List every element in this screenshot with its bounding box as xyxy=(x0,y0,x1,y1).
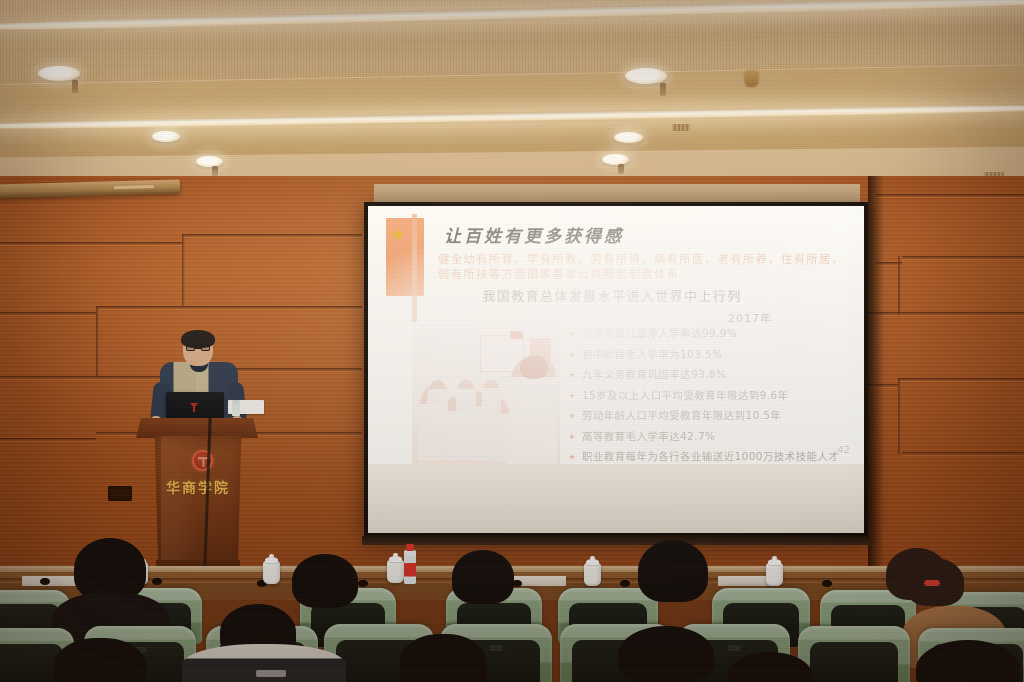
ceiling-vent xyxy=(672,124,690,131)
wall-groove-vertical xyxy=(182,234,185,306)
seat xyxy=(798,626,910,682)
bullet-text: 职业教育每年为各行各业输送近1000万技术技能人才 xyxy=(582,451,839,463)
ceiling-downlight xyxy=(625,68,667,84)
podium-bottle xyxy=(232,400,240,416)
photo-student xyxy=(456,380,475,419)
wall-socket xyxy=(108,486,132,501)
slide-classroom-photo xyxy=(412,324,560,464)
photo-student xyxy=(427,380,448,422)
bullet-marker-icon: ✦ xyxy=(568,411,576,423)
projected-slide: 让百姓有更多获得感 健全幼有所育、学有所教、劳有所得、病有所医、老有所养、住有所… xyxy=(368,206,864,464)
ceiling-downlight xyxy=(152,131,180,142)
wall-groove xyxy=(898,378,1024,381)
wall-groove xyxy=(0,376,184,379)
wall-groove-vertical xyxy=(96,306,99,376)
jacket-logo xyxy=(256,670,286,677)
audience-head xyxy=(638,540,708,602)
audience-head xyxy=(74,538,146,600)
photo-red-accent xyxy=(510,331,523,339)
ceiling-sensor xyxy=(745,70,758,86)
podium-institution-name: 华商学院 xyxy=(155,478,241,498)
downlight-stem xyxy=(660,83,666,96)
audience-head xyxy=(452,550,514,604)
bullet-text: 九年义务教育巩固率达93.8% xyxy=(582,369,726,381)
wall-groove xyxy=(0,242,182,245)
laptop xyxy=(166,392,224,418)
wall-groove xyxy=(902,452,1024,455)
wall-groove xyxy=(902,256,1024,259)
bullet-marker-icon: ✦ xyxy=(568,432,576,444)
wall-groove xyxy=(0,438,96,441)
audience-head xyxy=(54,638,146,682)
seat-number-tag xyxy=(490,645,503,651)
bullet-text: 劳动年龄人口平均受教育年限达到10.5年 xyxy=(582,410,781,422)
slide-subline: 健全幼有所育、学有所教、劳有所得、病有所医、老有所养、住有所居、弱有所扶等方面国… xyxy=(438,252,846,282)
seat-number-tag xyxy=(728,645,741,651)
slide-bullet-item: ✦ 职业教育每年为各行各业输送近1000万技术技能人才 xyxy=(568,451,854,464)
party-flag-icon xyxy=(386,218,424,296)
flag-pole xyxy=(412,214,417,322)
hair-clip xyxy=(924,580,940,586)
bullet-text: 初中阶段毛入学率为103.5% xyxy=(582,349,723,361)
ceiling-downlight xyxy=(38,66,80,81)
ceiling-downlight xyxy=(196,156,223,167)
screen-bottom-bar xyxy=(362,536,870,545)
photo-teacher-hair xyxy=(520,355,548,379)
wall-groove xyxy=(0,312,96,315)
projection-screen: 让百姓有更多获得感 健全幼有所育、学有所教、劳有所得、病有所医、老有所养、住有所… xyxy=(368,206,864,533)
ceiling-downlight xyxy=(614,132,643,143)
bullet-text: 高等教育毛入学率达42.7% xyxy=(582,431,715,443)
slide-bullet-item: ✦ 15岁及以上人口平均受教育年限达到9.6年 xyxy=(568,390,854,403)
wall-corner-shadow xyxy=(868,176,884,596)
glasses-icon xyxy=(186,345,210,351)
bullet-text: 小学学龄儿童净入学率达99.9% xyxy=(582,328,737,340)
slide-page-number: 42 xyxy=(837,445,850,456)
bullet-marker-icon: ✦ xyxy=(568,329,576,341)
slide-title: 让百姓有更多获得感 xyxy=(444,222,624,247)
audience-head xyxy=(292,554,358,608)
wall-groove-vertical xyxy=(898,378,901,454)
water-bottle xyxy=(404,550,416,584)
slide-bullet-item: ✦ 初中阶段毛入学率为103.5% xyxy=(568,349,854,362)
projection-screen-frame: 让百姓有更多获得感 健全幼有所育、学有所教、劳有所得、病有所医、老有所养、住有所… xyxy=(364,202,868,538)
photo-student xyxy=(482,380,501,416)
downlight-stem xyxy=(72,80,78,93)
slide-year-label: 2017年 xyxy=(728,310,772,326)
podium-top-surface xyxy=(136,418,258,438)
slide-section-heading: 我国教育总体发展水平进入世界中上行列 xyxy=(368,286,856,305)
downlight-stem xyxy=(618,164,624,174)
downlight-stem xyxy=(212,166,218,176)
wall-groove xyxy=(96,306,362,309)
bullet-marker-icon: ✦ xyxy=(568,370,576,382)
slide-bullet-item: ✦ 九年义务教育巩固率达93.8% xyxy=(568,369,854,382)
seat-cushion xyxy=(810,642,897,682)
bullet-marker-icon: ✦ xyxy=(568,391,576,403)
slide-bullet-item: ✦ 高等教育毛入学率达42.7% xyxy=(568,431,854,444)
lecture-hall-photo: 让百姓有更多获得感 健全幼有所育、学有所教、劳有所得、病有所医、老有所养、住有所… xyxy=(0,0,1024,682)
teacup xyxy=(387,560,404,583)
audience-head xyxy=(400,634,486,682)
teacup xyxy=(263,561,280,584)
wall-groove-vertical xyxy=(898,256,901,314)
audience-seating xyxy=(0,582,1024,682)
wall-groove xyxy=(876,194,1024,197)
bullet-marker-icon: ✦ xyxy=(568,350,576,362)
ceiling xyxy=(0,0,1024,188)
bullet-marker-icon: ✦ xyxy=(568,452,576,464)
audience-head xyxy=(618,626,714,682)
bullet-text: 15岁及以上人口平均受教育年限达到9.6年 xyxy=(582,390,788,402)
slide-bullet-item: ✦ 小学学龄儿童净入学率达99.9% xyxy=(568,328,854,341)
screen-blank-area xyxy=(368,464,864,533)
wall-groove xyxy=(182,234,362,237)
slide-bullet-list: ✦ 小学学龄儿童净入学率达99.9% ✦ 初中阶段毛入学率为103.5% ✦ 九… xyxy=(568,328,854,464)
ceiling-downlight xyxy=(602,154,629,165)
slide-bullet-item: ✦ 劳动年龄人口平均受教育年限达到10.5年 xyxy=(568,410,854,423)
